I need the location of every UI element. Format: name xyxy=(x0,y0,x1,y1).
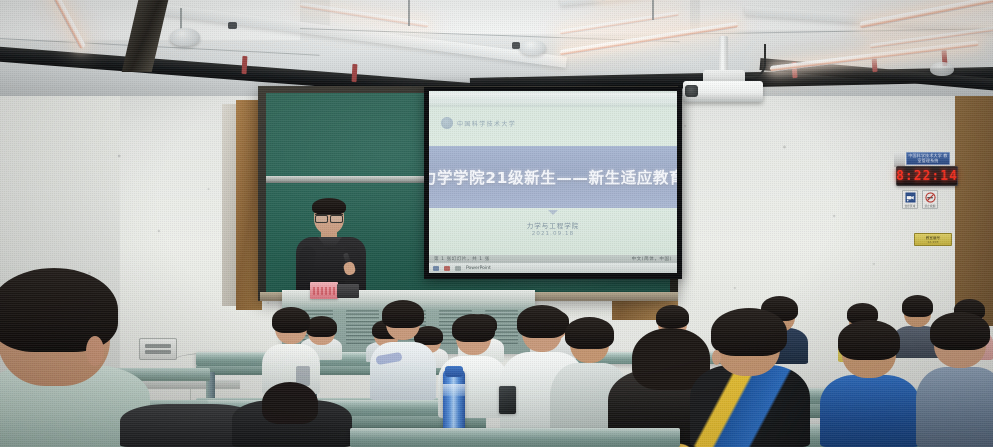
student-hair xyxy=(902,295,933,317)
light-hanger xyxy=(652,0,654,20)
student-hair xyxy=(452,314,495,342)
surveillance-sign-caption: 监控区域 xyxy=(905,204,916,208)
lecture-hall-photo: 中国科学技术大学 力学学院21级新生——新生适应教育 力学与工程学院 2021.… xyxy=(0,0,993,447)
ceiling xyxy=(0,0,993,96)
ceiling-speaker xyxy=(930,62,954,76)
clock-bracket xyxy=(894,152,905,167)
student-torso-blue xyxy=(820,375,920,447)
student-ear xyxy=(712,350,721,365)
clock-time: 8:22:14 xyxy=(896,169,958,184)
slide-logo-text: 中国科学技术大学 xyxy=(457,119,516,128)
projector-cable xyxy=(744,44,766,78)
student-torso xyxy=(916,367,993,447)
slide-date: 2021.09.18 xyxy=(429,231,677,237)
taskbar-app-icon[interactable] xyxy=(455,266,461,271)
light-hanger xyxy=(408,0,410,26)
duct-bracket xyxy=(352,64,358,82)
gift-box-label xyxy=(313,287,335,295)
light-hanger xyxy=(180,8,182,30)
desk-row-front xyxy=(350,428,680,447)
classroom-info-sign-text: 中国科学技术大学 教室管理系统 xyxy=(907,154,949,163)
status-language: 中文(简体，中国) xyxy=(632,256,672,262)
student-hair xyxy=(930,312,990,350)
surveillance-sign: 监控区域 xyxy=(902,190,918,209)
projection-screen: 中国科学技术大学 力学学院21级新生——新生适应教育 力学与工程学院 2021.… xyxy=(429,91,677,273)
student-torso xyxy=(370,342,436,400)
student-hair xyxy=(711,308,787,356)
room-number-plaque: 教室编号 1A-203 xyxy=(914,233,952,246)
student-foreground-jacket xyxy=(690,316,810,447)
status-slide-count: 第 1 张幻灯片，共 1 张 xyxy=(434,256,490,262)
student-hair xyxy=(656,305,689,328)
projection-screen-frame: 中国科学技术大学 力学学院21级新生——新生适应教育 力学与工程学院 2021.… xyxy=(424,87,682,279)
projector-mount-pole xyxy=(719,36,728,74)
windows-taskbar[interactable]: PowerPoint xyxy=(429,263,677,273)
student-foreground-far-right xyxy=(916,318,993,447)
slide-title-band: 力学学院21级新生——新生适应教育 xyxy=(429,146,677,208)
projector-lens-icon xyxy=(685,85,698,97)
classroom-info-sign: 中国科学技术大学 教室管理系统 xyxy=(906,152,950,165)
slide-title: 力学学院21级新生——新生适应教育 xyxy=(429,166,677,188)
no-smoking-sign: 禁止吸烟 xyxy=(922,190,938,209)
eyeglasses-icon xyxy=(315,214,343,220)
slide-subtitle: 力学与工程学院 xyxy=(429,220,677,230)
no-smoking-icon xyxy=(925,192,936,203)
slide-logo: 中国科学技术大学 xyxy=(441,117,516,129)
plaque-line-2: 1A-203 xyxy=(927,240,938,244)
presenter-hair xyxy=(312,198,346,215)
app-titlebar xyxy=(429,93,677,101)
taskbar-label: PowerPoint xyxy=(466,266,491,271)
duct-bracket xyxy=(242,56,248,74)
university-crest-icon xyxy=(441,117,453,129)
ceiling-speaker xyxy=(520,40,546,55)
student-hair xyxy=(838,320,900,360)
board-wood-panel-far-right xyxy=(955,96,993,326)
bottle-label xyxy=(443,384,465,396)
student-ear xyxy=(86,336,104,366)
ceiling-sensor xyxy=(512,42,520,49)
podium-equipment xyxy=(337,284,359,298)
camera-icon xyxy=(905,192,916,203)
bottle-cap xyxy=(445,366,463,377)
student xyxy=(370,304,436,400)
student-hair xyxy=(565,317,614,349)
student-foreground-mid xyxy=(232,390,352,447)
student-hair xyxy=(272,307,310,333)
ceiling-sensor xyxy=(228,22,237,29)
led-wall-clock: 8:22:14 xyxy=(896,166,958,186)
powerpoint-status-bar: 第 1 张幻灯片，共 1 张 中文(简体，中国) xyxy=(429,255,677,263)
taskbar-app-icon[interactable] xyxy=(444,266,450,271)
chevron-down-icon xyxy=(548,210,558,215)
student-hair xyxy=(382,300,424,328)
no-smoking-sign-caption: 禁止吸烟 xyxy=(925,204,936,208)
student-torso-sports-jacket xyxy=(690,365,810,447)
student-head xyxy=(262,382,318,424)
start-button-icon[interactable] xyxy=(433,266,439,271)
smartphone xyxy=(499,386,516,414)
student-foreground-right xyxy=(820,326,920,447)
ceiling-speaker xyxy=(170,28,200,46)
